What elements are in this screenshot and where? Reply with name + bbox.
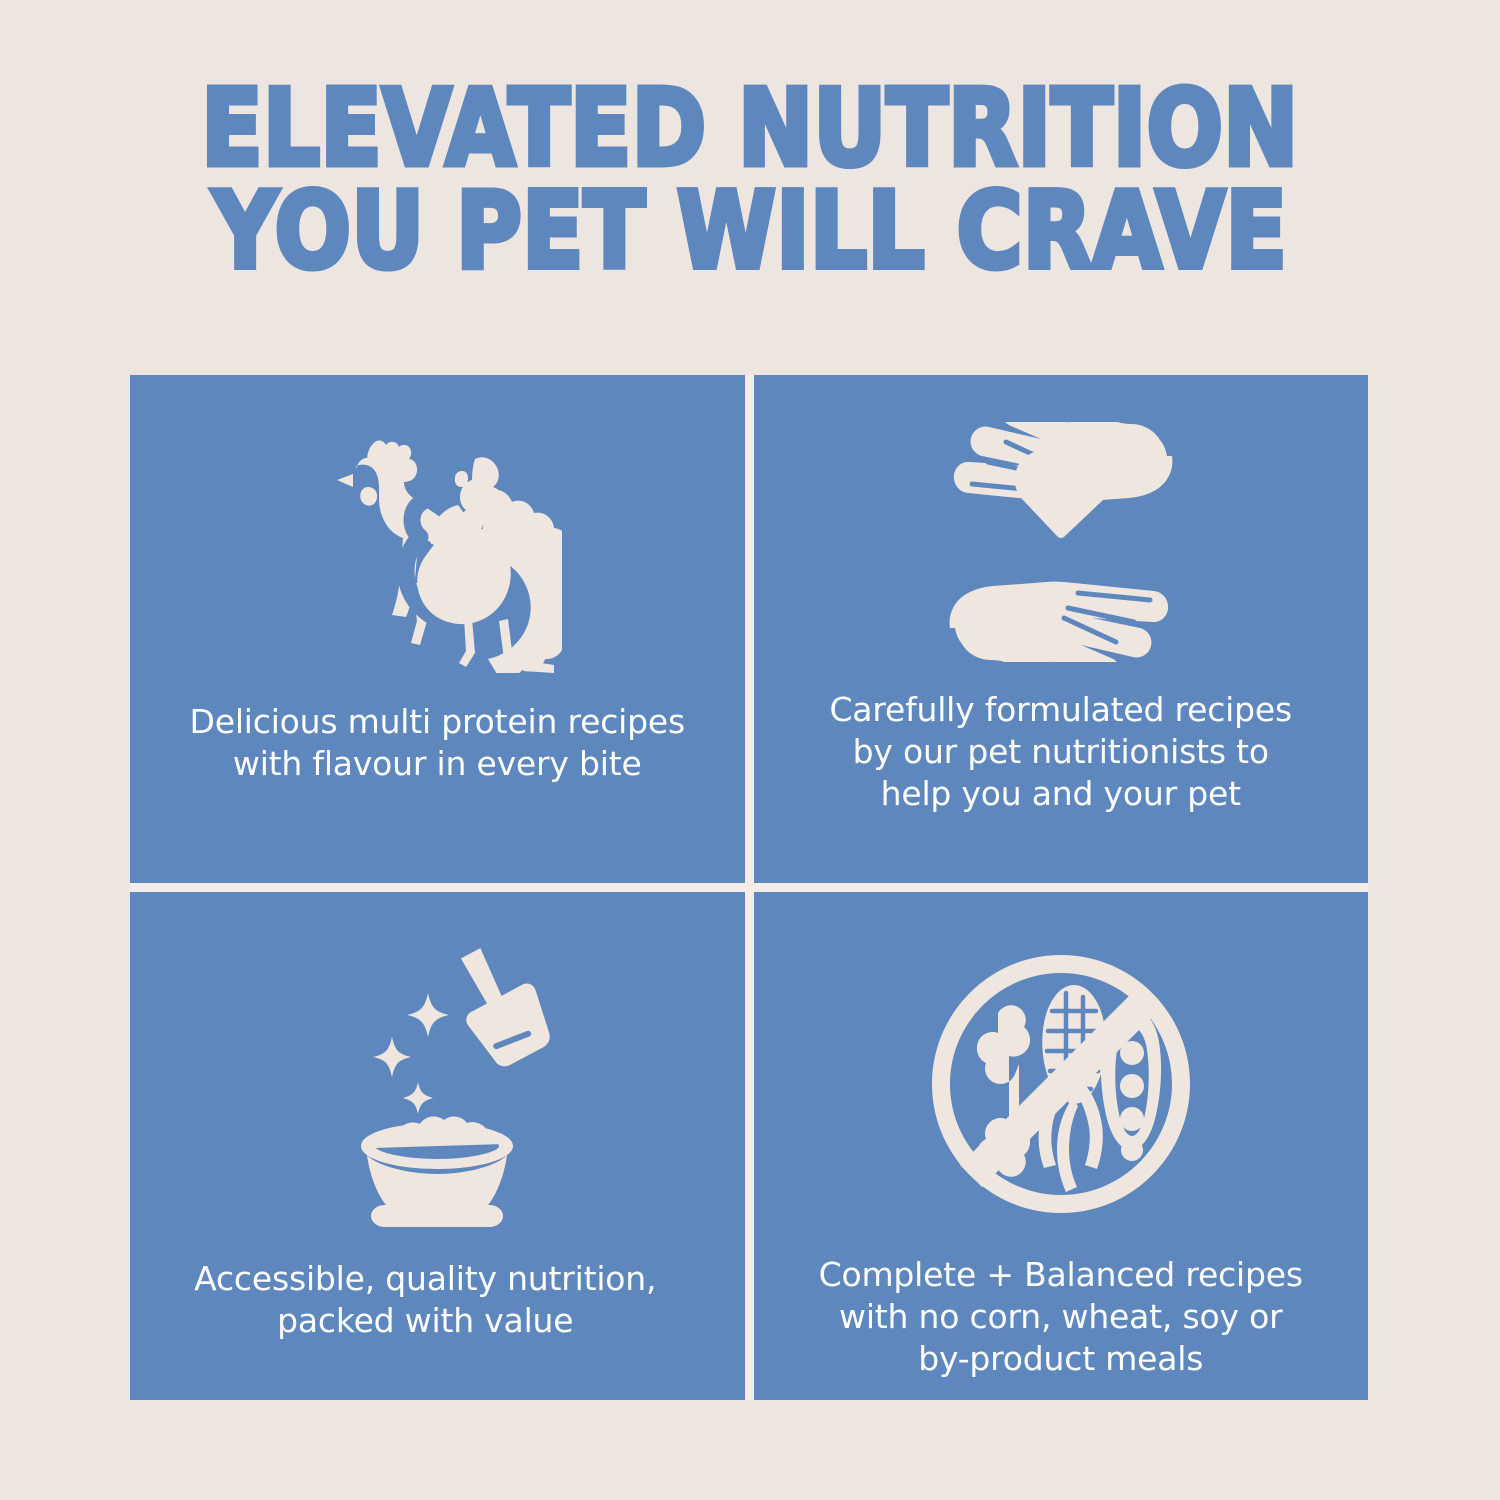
caption-line-2: by our pet nutritionists to (853, 732, 1269, 771)
benefit-panel-multi-protein: Delicious multi protein recipes with fla… (130, 375, 745, 883)
caption-line-2: with no corn, wheat, soy or (839, 1297, 1282, 1336)
caption-line-3: help you and your pet (881, 774, 1241, 813)
sparkle-small (403, 1082, 433, 1114)
lower-hand (949, 582, 1168, 662)
caption-line-1: Complete + Balanced recipes (819, 1255, 1303, 1294)
benefit-caption-accessible-value: Accessible, quality nutrition, packed wi… (143, 1258, 708, 1342)
sparkle-medium (373, 1037, 411, 1077)
no-corn-wheat-soy-icon (754, 934, 1369, 1234)
bowl-scoop-sparkles-icon (130, 932, 745, 1232)
caption-line-1: Delicious multi protein recipes (190, 702, 685, 741)
scoop (439, 937, 561, 1074)
headline-line-2: YOU PET WILL CRAVE (84, 181, 1415, 284)
benefit-caption-multi-protein: Delicious multi protein recipes with fla… (155, 701, 720, 785)
caption-line-3: by-product meals (918, 1339, 1203, 1378)
caption-line-2: packed with value (277, 1301, 573, 1340)
chicken-turkey-icon (130, 423, 745, 673)
benefit-panel-accessible-value: Accessible, quality nutrition, packed wi… (130, 892, 745, 1400)
caption-line-2: with flavour in every bite (233, 744, 642, 783)
caption-line-1: Accessible, quality nutrition, (194, 1259, 656, 1298)
hands-heart-icon (754, 417, 1369, 667)
benefit-caption-no-fillers: Complete + Balanced recipes with no corn… (778, 1254, 1343, 1380)
benefit-panel-no-fillers: Complete + Balanced recipes with no corn… (754, 892, 1369, 1400)
sparkle-large (407, 993, 449, 1037)
benefit-panel-formulated: Carefully formulated recipes by our pet … (754, 375, 1369, 883)
poster-root: ELEVATED NUTRITION YOU PET WILL CRAVE (0, 0, 1500, 1500)
benefit-caption-formulated: Carefully formulated recipes by our pet … (778, 689, 1343, 815)
page-title: ELEVATED NUTRITION YOU PET WILL CRAVE (84, 78, 1415, 284)
benefits-grid: Delicious multi protein recipes with fla… (130, 375, 1368, 1400)
caption-line-1: Carefully formulated recipes (829, 690, 1292, 729)
headline-line-1: ELEVATED NUTRITION (84, 78, 1415, 181)
